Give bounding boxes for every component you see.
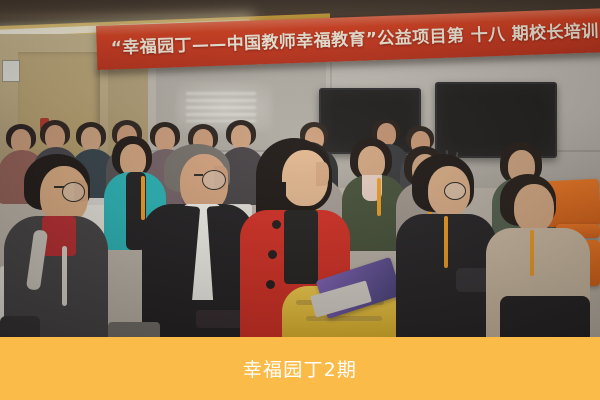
audience bbox=[0, 120, 600, 340]
projection-content bbox=[186, 92, 256, 122]
coat-button-2 bbox=[268, 250, 277, 259]
lap-dark bbox=[500, 296, 590, 340]
face-profile-red bbox=[316, 162, 329, 186]
event-banner-text: “幸福园丁——中国教师幸福教育”公益项目第 十八 期校长培训 bbox=[110, 16, 599, 58]
caption-bar: 幸福园丁2期 bbox=[0, 337, 600, 400]
wall-notice-sign bbox=[2, 60, 20, 82]
caption-text: 幸福园丁2期 bbox=[243, 355, 357, 382]
inner-black-top bbox=[284, 210, 318, 284]
coat-button-1 bbox=[272, 220, 281, 229]
coat-button-3 bbox=[266, 280, 275, 289]
seminar-room-photo: “幸福园丁——中国教师幸福教育”公益项目第 十八 期校长培训 bbox=[0, 0, 600, 340]
photo-screenshot: “幸福园丁——中国教师幸福教育”公益项目第 十八 期校长培训 bbox=[0, 0, 600, 400]
hoodie-drawstring-2 bbox=[62, 246, 67, 306]
